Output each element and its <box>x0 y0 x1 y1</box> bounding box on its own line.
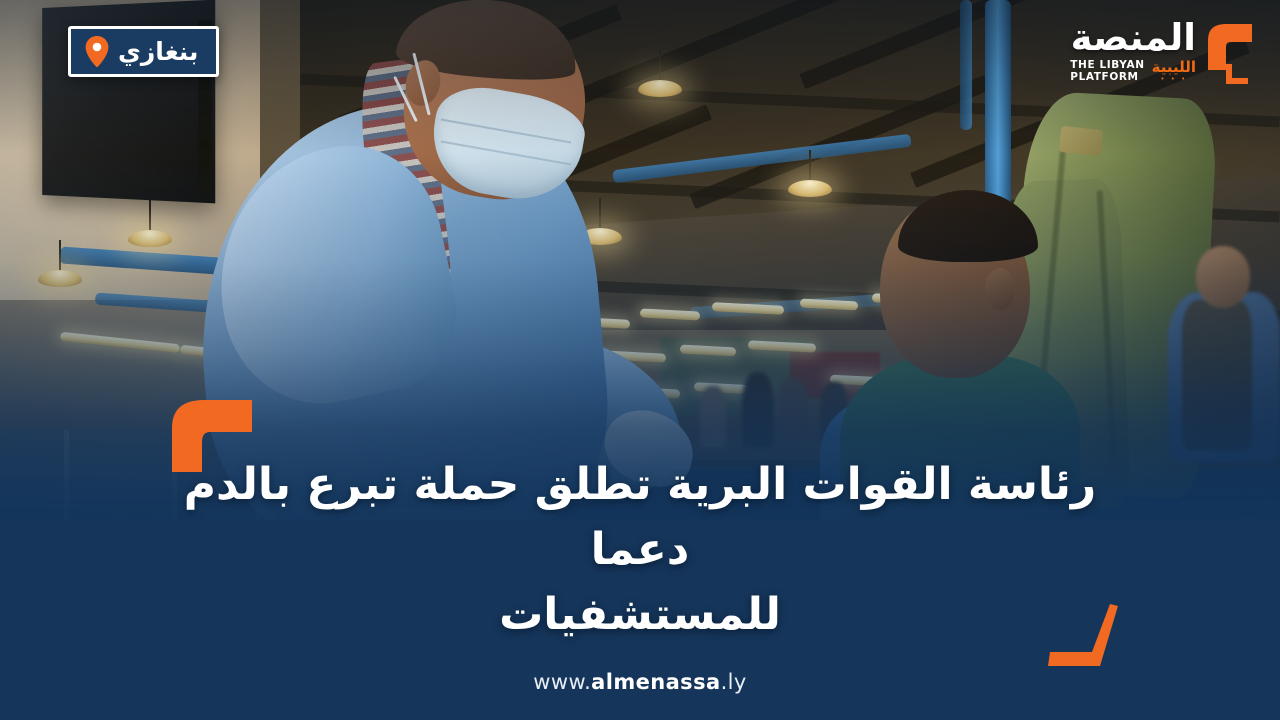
logo-arabic-main: المنصة <box>1071 20 1196 56</box>
website-url[interactable]: www.almenassa.ly <box>0 670 1280 694</box>
logo-subline: THE LIBYAN PLATFORM الليبية • • • <box>1070 59 1196 83</box>
logo-bracket-mark <box>1202 18 1264 92</box>
headline-line-1: رئاسة القوات البرية تطلق حملة تبرع بالدم… <box>180 452 1100 582</box>
news-card: بنغازي المنصة THE LIBYAN PLATFORM الليبي… <box>0 0 1280 720</box>
logo-dots: • • • <box>1160 76 1187 83</box>
headline-line-2: للمستشفيات <box>180 582 1100 647</box>
url-suffix: .ly <box>721 670 747 694</box>
location-label: بنغازي <box>118 39 198 64</box>
logo-english-line1: THE LIBYAN <box>1070 59 1144 71</box>
logo-english-line2: PLATFORM <box>1070 71 1138 83</box>
logo-english: THE LIBYAN PLATFORM <box>1070 59 1144 83</box>
location-badge[interactable]: بنغازي <box>68 26 219 77</box>
logo-arabic-sub: الليبية <box>1152 60 1196 75</box>
logo-wordmark: المنصة THE LIBYAN PLATFORM الليبية • • • <box>1070 18 1196 83</box>
headline: رئاسة القوات البرية تطلق حملة تبرع بالدم… <box>180 452 1100 647</box>
map-pin-icon <box>85 36 109 67</box>
brand-logo[interactable]: المنصة THE LIBYAN PLATFORM الليبية • • • <box>1070 18 1264 92</box>
logo-arabic-sub-wrap: الليبية • • • <box>1152 60 1196 83</box>
url-prefix: www. <box>533 670 591 694</box>
url-brand: almenassa <box>591 670 720 694</box>
